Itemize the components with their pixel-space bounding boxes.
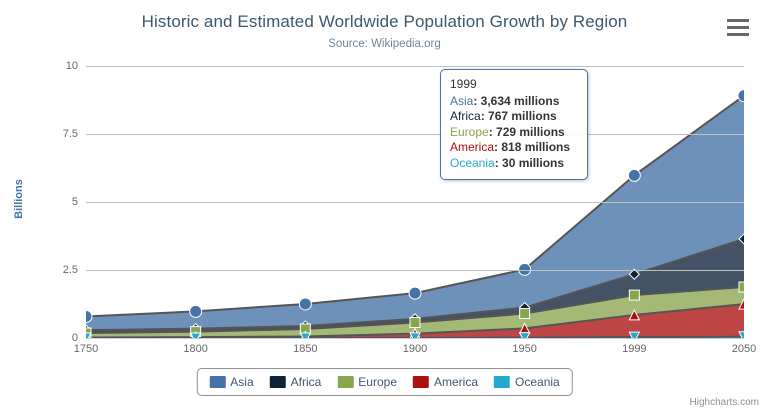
y-axis-tick-label: 10 — [16, 60, 78, 72]
hamburger-bar — [727, 19, 749, 22]
y-gridline — [86, 202, 744, 203]
point-marker-asia[interactable] — [628, 169, 640, 181]
point-marker-asia[interactable] — [409, 287, 421, 299]
highcharts-container: Historic and Estimated Worldwide Populat… — [0, 0, 769, 416]
x-axis-line — [86, 338, 744, 339]
x-axis-tick-label: 1750 — [41, 343, 131, 355]
tooltip-series-name: America — [450, 140, 494, 154]
credits-label[interactable]: Highcharts.com — [690, 397, 759, 408]
x-axis-tick-label: 2050 — [699, 343, 769, 355]
tooltip-series-value: : 818 millions — [494, 140, 570, 154]
tooltip-series-name: Oceania — [450, 156, 495, 170]
tooltip-row: America: 818 millions — [450, 140, 578, 156]
chart-title: Historic and Estimated Worldwide Populat… — [0, 12, 769, 32]
x-axis-tick-label: 1999 — [589, 343, 679, 355]
legend-label: Oceania — [515, 375, 560, 389]
x-axis-tick-label: 1800 — [151, 343, 241, 355]
x-axis-tick-label: 1950 — [480, 343, 570, 355]
y-gridline — [86, 134, 744, 135]
y-gridline — [86, 66, 744, 67]
legend-label: Europe — [358, 375, 397, 389]
legend-item-asia[interactable]: Asia — [209, 375, 253, 389]
legend-item-europe[interactable]: Europe — [337, 375, 397, 389]
point-marker-asia[interactable] — [190, 305, 202, 317]
tooltip-series-value: : 767 millions — [481, 109, 557, 123]
tooltip-series-value: : 30 millions — [495, 156, 564, 170]
tooltip-row: Africa: 767 millions — [450, 109, 578, 125]
chart-subtitle: Source: Wikipedia.org — [0, 38, 769, 50]
hamburger-icon[interactable] — [725, 17, 753, 41]
point-marker-europe[interactable] — [739, 282, 744, 292]
x-axis-tick-label: 1850 — [260, 343, 350, 355]
tooltip-series-name: Europe — [450, 125, 489, 139]
tooltip-row: Asia: 3,634 millions — [450, 94, 578, 110]
point-marker-europe[interactable] — [410, 317, 420, 327]
legend-label: Africa — [291, 375, 322, 389]
y-axis-title: Billions — [13, 179, 25, 219]
tooltip-series-value: : 729 millions — [489, 125, 565, 139]
legend-swatch — [413, 376, 429, 388]
hamburger-bar — [727, 26, 749, 29]
point-marker-asia[interactable] — [299, 298, 311, 310]
y-axis-tick-label: 7.5 — [16, 128, 78, 140]
point-marker-europe[interactable] — [629, 290, 639, 300]
plot-area — [86, 66, 744, 338]
tooltip-series-value: : 3,634 millions — [473, 94, 559, 108]
legend-label: America — [434, 375, 478, 389]
y-axis-tick-label: 5 — [16, 196, 78, 208]
tooltip-rows: Asia: 3,634 millionsAfrica: 767 millions… — [450, 94, 578, 172]
tooltip: 1999 Asia: 3,634 millionsAfrica: 767 mil… — [440, 69, 588, 180]
point-marker-europe[interactable] — [520, 309, 530, 319]
legend-swatch — [337, 376, 353, 388]
y-gridline — [86, 270, 744, 271]
legend-swatch — [209, 376, 225, 388]
legend-label: Asia — [230, 375, 253, 389]
legend-item-america[interactable]: America — [413, 375, 478, 389]
legend-item-africa[interactable]: Africa — [270, 375, 322, 389]
legend[interactable]: AsiaAfricaEuropeAmericaOceania — [196, 368, 572, 396]
legend-swatch — [494, 376, 510, 388]
legend-swatch — [270, 376, 286, 388]
tooltip-header: 1999 — [450, 77, 578, 93]
x-axis-tick-label: 1900 — [370, 343, 460, 355]
tooltip-series-name: Asia — [450, 94, 473, 108]
hamburger-bar — [727, 33, 749, 36]
tooltip-row: Europe: 729 millions — [450, 125, 578, 141]
tooltip-series-name: Africa — [450, 109, 481, 123]
y-axis-tick-label: 2.5 — [16, 264, 78, 276]
tooltip-row: Oceania: 30 millions — [450, 156, 578, 172]
legend-item-oceania[interactable]: Oceania — [494, 375, 560, 389]
